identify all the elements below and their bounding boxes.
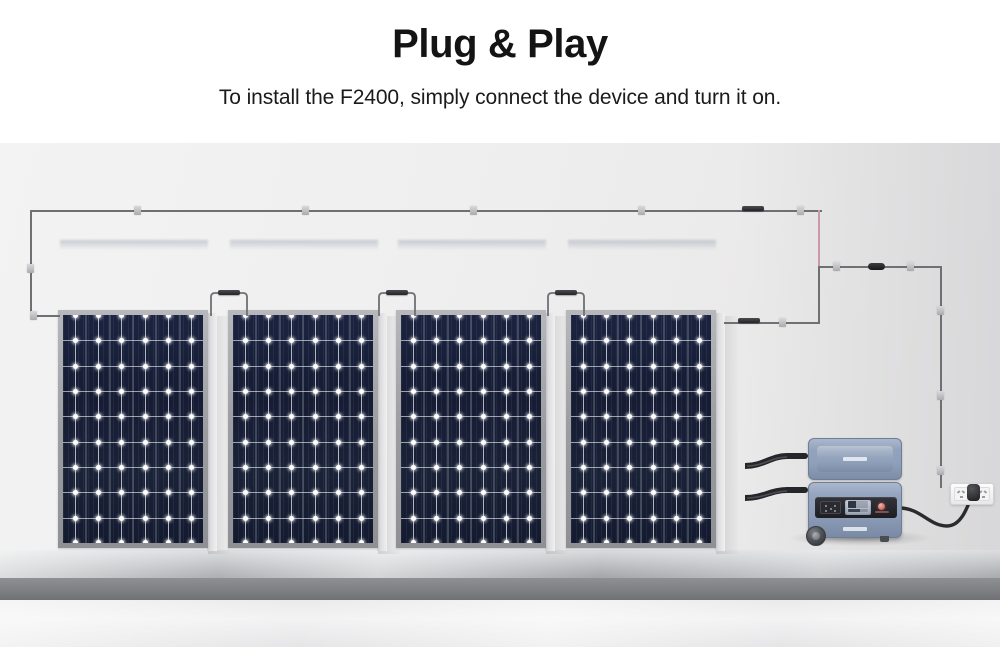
- busbar-horizontal: [571, 442, 711, 443]
- busbar-node: [481, 490, 486, 495]
- busbar-node: [359, 516, 364, 521]
- busbar-node: [411, 414, 416, 419]
- busbar-node: [411, 440, 416, 445]
- busbar-node: [119, 389, 124, 394]
- busbar-vertical: [436, 315, 437, 543]
- busbar-node: [481, 338, 486, 343]
- panel-reflection: [398, 240, 546, 250]
- busbar-node: [651, 338, 656, 343]
- busbar-node: [651, 364, 656, 369]
- cable-clip: [470, 206, 477, 215]
- busbar-node: [581, 440, 586, 445]
- busbar-node: [527, 440, 532, 445]
- busbar-horizontal: [401, 518, 541, 519]
- busbar-node: [674, 516, 679, 521]
- busbar-node: [697, 338, 702, 343]
- busbar-horizontal: [63, 366, 203, 367]
- busbar-node: [457, 540, 462, 543]
- busbar-node: [457, 414, 462, 419]
- busbar-node: [289, 465, 294, 470]
- busbar-node: [697, 540, 702, 543]
- busbar-node: [266, 414, 271, 419]
- ac-outlet-pin: [830, 508, 832, 510]
- busbar-node: [336, 516, 341, 521]
- cell-column-gap: [617, 315, 619, 543]
- busbar-node: [411, 338, 416, 343]
- busbar-node: [411, 540, 416, 543]
- busbar-node: [73, 389, 78, 394]
- busbar-node: [243, 490, 248, 495]
- cell-column-gap: [447, 315, 449, 543]
- busbar-node: [434, 440, 439, 445]
- busbar-node: [96, 540, 101, 543]
- busbar-node: [336, 389, 341, 394]
- panel-reflection: [568, 240, 716, 250]
- control-panel[interactable]: [815, 497, 897, 518]
- busbar-node: [266, 465, 271, 470]
- busbar-node: [674, 414, 679, 419]
- busbar-node: [119, 414, 124, 419]
- busbar-node: [336, 414, 341, 419]
- busbar-node: [359, 389, 364, 394]
- solar-panel-3: [396, 310, 546, 548]
- busbar-node: [313, 516, 318, 521]
- busbar-vertical: [315, 315, 316, 543]
- cell-column-gap: [687, 315, 689, 543]
- busbar-node: [289, 364, 294, 369]
- busbar-node: [119, 490, 124, 495]
- busbar-vertical: [583, 315, 584, 543]
- busbar-node: [627, 516, 632, 521]
- busbar-node: [674, 540, 679, 543]
- ac-outlet-group[interactable]: [820, 501, 841, 514]
- cable-clip: [833, 262, 840, 271]
- busbar-node: [527, 540, 532, 543]
- busbar-node: [527, 338, 532, 343]
- busbar-node: [434, 540, 439, 543]
- busbar-node: [189, 516, 194, 521]
- busbar-node: [266, 540, 271, 543]
- busbar-node: [313, 465, 318, 470]
- outlet-slot: [984, 490, 987, 493]
- cable-junction-connector: [868, 263, 885, 270]
- busbar-vertical: [483, 315, 484, 543]
- busbar-horizontal: [63, 492, 203, 493]
- outlet-slot: [957, 490, 960, 493]
- busbar-node: [457, 440, 462, 445]
- panel-glass: [571, 315, 711, 543]
- busbar-node: [651, 516, 656, 521]
- busbar-node: [143, 516, 148, 521]
- busbar-node: [504, 338, 509, 343]
- cell-column-gap: [325, 315, 327, 543]
- busbar-node: [243, 364, 248, 369]
- cell-column-gap: [279, 315, 281, 543]
- counter-edge: [0, 578, 1000, 600]
- busbar-node: [359, 414, 364, 419]
- busbar-node: [674, 440, 679, 445]
- busbar-node: [434, 389, 439, 394]
- busbar-node: [457, 490, 462, 495]
- busbar-node: [411, 465, 416, 470]
- busbar-node: [243, 540, 248, 543]
- support-foot: [880, 536, 889, 542]
- busbar-node: [96, 414, 101, 419]
- busbar-node: [457, 389, 462, 394]
- mc4-connector: [738, 318, 760, 323]
- busbar-node: [289, 540, 294, 543]
- panel-frame: [566, 310, 716, 548]
- busbar-node: [143, 414, 148, 419]
- busbar-node: [289, 516, 294, 521]
- busbar-node: [504, 414, 509, 419]
- busbar-horizontal: [63, 442, 203, 443]
- busbar-node: [411, 389, 416, 394]
- busbar-horizontal: [401, 492, 541, 493]
- busbar-node: [411, 364, 416, 369]
- panel-glass: [63, 315, 203, 543]
- busbar-node: [143, 364, 148, 369]
- busbar-node: [119, 364, 124, 369]
- busbar-node: [527, 364, 532, 369]
- busbar-node: [581, 516, 586, 521]
- cell-column-gap: [470, 315, 472, 543]
- panel-frame: [396, 310, 546, 548]
- busbar-node: [266, 389, 271, 394]
- panel-frame: [228, 310, 378, 548]
- busbar-node: [627, 440, 632, 445]
- busbar-node: [697, 465, 702, 470]
- busbar-node: [189, 465, 194, 470]
- cell-column-gap: [155, 315, 157, 543]
- busbar-node: [697, 440, 702, 445]
- busbar-node: [189, 389, 194, 394]
- busbar-node: [527, 389, 532, 394]
- busbar-node: [73, 540, 78, 543]
- busbar-node: [457, 516, 462, 521]
- busbar-node: [73, 440, 78, 445]
- busbar-node: [581, 338, 586, 343]
- busbar-node: [504, 516, 509, 521]
- solar-panel-2: [228, 310, 378, 548]
- busbar-vertical: [168, 315, 169, 543]
- busbar-node: [166, 540, 171, 543]
- busbar-vertical: [145, 315, 146, 543]
- busbar-node: [434, 490, 439, 495]
- busbar-node: [73, 338, 78, 343]
- cell-column-gap: [85, 315, 87, 543]
- busbar-node: [189, 338, 194, 343]
- busbar-node: [527, 414, 532, 419]
- busbar-node: [289, 389, 294, 394]
- busbar-node: [96, 364, 101, 369]
- busbar-horizontal: [401, 467, 541, 468]
- busbar-node: [359, 490, 364, 495]
- outlet-face-left[interactable]: [954, 487, 968, 501]
- busbar-node: [313, 338, 318, 343]
- busbar-node: [143, 440, 148, 445]
- cell-column-gap: [302, 315, 304, 543]
- busbar-horizontal: [233, 340, 373, 341]
- busbar-node: [96, 338, 101, 343]
- busbar-node: [166, 516, 171, 521]
- busbar-node: [143, 389, 148, 394]
- busbar-node: [627, 414, 632, 419]
- busbar-node: [581, 465, 586, 470]
- busbar-node: [527, 516, 532, 521]
- panel-side-edge: [207, 313, 217, 551]
- cable-segment-vertical: [940, 266, 942, 488]
- busbar-node: [166, 440, 171, 445]
- busbar-node: [359, 338, 364, 343]
- busbar-node: [697, 490, 702, 495]
- busbar-node: [266, 516, 271, 521]
- cable-clip: [937, 306, 944, 315]
- cable-clip: [27, 264, 34, 273]
- busbar-node: [627, 490, 632, 495]
- panel-side-edge: [715, 313, 725, 551]
- cable-clip: [797, 206, 804, 215]
- header-band: Plug & Play To install the F2400, simply…: [0, 0, 1000, 143]
- busbar-node: [627, 389, 632, 394]
- busbar-node: [481, 465, 486, 470]
- busbar-node: [119, 440, 124, 445]
- cell-column-gap: [593, 315, 595, 543]
- busbar-node: [313, 364, 318, 369]
- busbar-node: [359, 364, 364, 369]
- busbar-node: [411, 516, 416, 521]
- busbar-node: [651, 540, 656, 543]
- busbar-horizontal: [233, 391, 373, 392]
- busbar-horizontal: [401, 391, 541, 392]
- busbar-horizontal: [401, 340, 541, 341]
- ac-outlet-pin: [834, 505, 836, 507]
- busbar-node: [604, 389, 609, 394]
- cable-clip: [638, 206, 645, 215]
- busbar-vertical: [121, 315, 122, 543]
- busbar-node: [481, 414, 486, 419]
- busbar-vertical: [699, 315, 700, 543]
- busbar-node: [289, 440, 294, 445]
- busbar-node: [604, 490, 609, 495]
- busbar-node: [119, 465, 124, 470]
- busbar-horizontal: [401, 416, 541, 417]
- busbar-node: [527, 465, 532, 470]
- cable-clip: [779, 318, 786, 327]
- busbar-horizontal: [571, 366, 711, 367]
- busbar-node: [674, 389, 679, 394]
- busbar-horizontal: [233, 416, 373, 417]
- cable-clip: [907, 262, 914, 271]
- busbar-node: [481, 389, 486, 394]
- cable-clip: [134, 206, 141, 215]
- busbar-horizontal: [63, 518, 203, 519]
- busbar-node: [166, 389, 171, 394]
- cell-column-gap: [179, 315, 181, 543]
- busbar-node: [189, 364, 194, 369]
- busbar-node: [604, 414, 609, 419]
- busbar-node: [119, 540, 124, 543]
- wheel-hub: [812, 532, 820, 540]
- busbar-node: [143, 465, 148, 470]
- busbar-vertical: [676, 315, 677, 543]
- busbar-vertical: [268, 315, 269, 543]
- busbar-node: [289, 490, 294, 495]
- busbar-horizontal: [571, 416, 711, 417]
- cell-column-gap: [423, 315, 425, 543]
- busbar-node: [243, 338, 248, 343]
- cable-segment-vertical: [30, 210, 32, 315]
- busbar-node: [697, 389, 702, 394]
- busbar-node: [627, 364, 632, 369]
- cable-segment-horizontal: [30, 210, 820, 212]
- busbar-node: [336, 490, 341, 495]
- busbar-node: [266, 364, 271, 369]
- screen-readout: [848, 501, 868, 508]
- power-plug[interactable]: [967, 484, 980, 501]
- solar-panel-1: [58, 310, 208, 548]
- busbar-node: [313, 440, 318, 445]
- busbar-horizontal: [233, 442, 373, 443]
- busbar-vertical: [291, 315, 292, 543]
- busbar-node: [504, 440, 509, 445]
- busbar-node: [604, 516, 609, 521]
- busbar-node: [266, 490, 271, 495]
- busbar-vertical: [98, 315, 99, 543]
- busbar-node: [674, 465, 679, 470]
- busbar-node: [313, 540, 318, 543]
- busbar-vertical: [338, 315, 339, 543]
- busbar-node: [527, 490, 532, 495]
- cell-column-gap: [663, 315, 665, 543]
- busbar-node: [504, 465, 509, 470]
- busbar-node: [359, 540, 364, 543]
- busbar-node: [674, 338, 679, 343]
- busbar-node: [336, 465, 341, 470]
- busbar-node: [143, 338, 148, 343]
- busbar-node: [697, 364, 702, 369]
- busbar-node: [504, 490, 509, 495]
- busbar-node: [697, 516, 702, 521]
- page-subtitle: To install the F2400, simply connect the…: [0, 86, 1000, 110]
- busbar-node: [289, 414, 294, 419]
- busbar-node: [313, 389, 318, 394]
- busbar-node: [434, 364, 439, 369]
- busbar-horizontal: [401, 366, 541, 367]
- busbar-node: [504, 389, 509, 394]
- busbar-node: [96, 389, 101, 394]
- busbar-horizontal: [571, 518, 711, 519]
- cable-segment-vertical: [818, 266, 820, 324]
- busbar-node: [96, 465, 101, 470]
- busbar-vertical: [459, 315, 460, 543]
- busbar-vertical: [245, 315, 246, 543]
- power-button-label: [875, 511, 889, 513]
- busbar-node: [243, 440, 248, 445]
- busbar-vertical: [506, 315, 507, 543]
- busbar-node: [266, 338, 271, 343]
- busbar-node: [189, 540, 194, 543]
- busbar-node: [96, 516, 101, 521]
- busbar-node: [504, 364, 509, 369]
- busbar-node: [243, 389, 248, 394]
- panel-reflection: [60, 240, 208, 250]
- cable-clip: [937, 466, 944, 475]
- panel-glass: [401, 315, 541, 543]
- busbar-node: [434, 338, 439, 343]
- mc4-connector: [742, 206, 764, 211]
- busbar-node: [434, 414, 439, 419]
- busbar-node: [336, 364, 341, 369]
- busbar-horizontal: [233, 518, 373, 519]
- busbar-node: [73, 465, 78, 470]
- busbar-node: [96, 490, 101, 495]
- busbar-node: [627, 338, 632, 343]
- screen-battery-bar: [848, 509, 868, 512]
- portable-power-station[interactable]: [802, 438, 902, 544]
- busbar-horizontal: [233, 492, 373, 493]
- busbar-horizontal: [571, 391, 711, 392]
- busbar-horizontal: [63, 391, 203, 392]
- busbar-node: [581, 414, 586, 419]
- panel-side-edge: [545, 313, 555, 551]
- busbar-node: [604, 465, 609, 470]
- busbar-node: [697, 414, 702, 419]
- busbar-node: [166, 490, 171, 495]
- busbar-node: [627, 540, 632, 543]
- outlet-slot: [960, 496, 963, 498]
- mc4-connector: [555, 290, 577, 295]
- busbar-node: [604, 364, 609, 369]
- cable-clip: [30, 311, 37, 320]
- busbar-node: [674, 490, 679, 495]
- busbar-node: [481, 440, 486, 445]
- busbar-node: [289, 338, 294, 343]
- busbar-node: [119, 338, 124, 343]
- busbar-node: [73, 490, 78, 495]
- busbar-node: [313, 490, 318, 495]
- busbar-node: [166, 414, 171, 419]
- power-button[interactable]: [878, 503, 885, 510]
- busbar-horizontal: [63, 467, 203, 468]
- busbar-node: [243, 414, 248, 419]
- busbar-node: [581, 389, 586, 394]
- busbar-node: [336, 440, 341, 445]
- busbar-node: [411, 490, 416, 495]
- cell-column-gap: [109, 315, 111, 543]
- busbar-node: [651, 465, 656, 470]
- cell-column-gap: [255, 315, 257, 543]
- busbar-node: [73, 414, 78, 419]
- cell-column-gap: [493, 315, 495, 543]
- busbar-node: [504, 540, 509, 543]
- cell-column-gap: [349, 315, 351, 543]
- busbar-node: [651, 440, 656, 445]
- expansion-battery[interactable]: [808, 438, 902, 480]
- display-screen: [845, 500, 871, 515]
- floor-gloss: [0, 600, 1000, 647]
- power-station-brand-logo: [843, 527, 867, 531]
- counter-gloss: [0, 550, 1000, 580]
- busbar-node: [189, 490, 194, 495]
- cable-clip: [937, 391, 944, 400]
- busbar-horizontal: [63, 416, 203, 417]
- solar-panel-4: [566, 310, 716, 548]
- busbar-node: [604, 440, 609, 445]
- cable-clip: [302, 206, 309, 215]
- busbar-node: [481, 516, 486, 521]
- busbar-node: [73, 364, 78, 369]
